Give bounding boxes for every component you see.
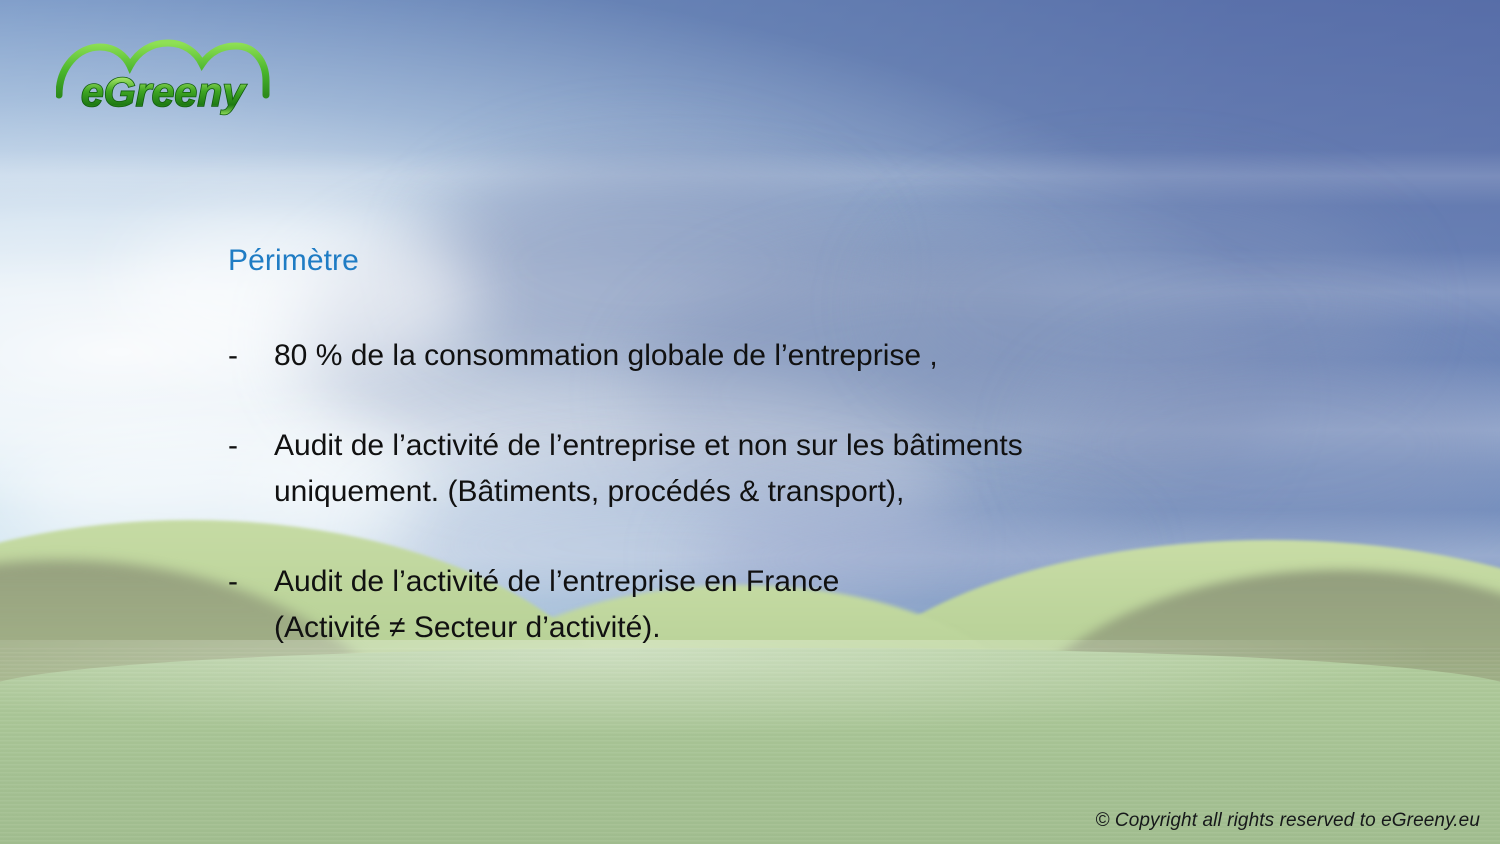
bullet-text: 80 % de la consommation globale de l’ent… — [274, 333, 1320, 379]
logo-wordmark: eGreeny — [81, 69, 247, 115]
list-item: - Audit de l’activité de l’entreprise en… — [228, 559, 1320, 651]
egreeny-logo-icon: eGreeny — [56, 33, 270, 117]
egreeny-logo[interactable]: eGreeny — [56, 33, 270, 117]
list-item: - 80 % de la consommation globale de l’e… — [228, 333, 1320, 379]
page-title: Périmètre — [228, 243, 1320, 279]
bullet-marker: - — [228, 559, 274, 605]
bullet-text: Audit de l’activité de l’entreprise et n… — [274, 423, 1320, 515]
slide-canvas: eGreeny Périmètre - 80 % de la consommat… — [0, 0, 1500, 844]
grass-highlight — [0, 640, 1500, 760]
bullet-marker: - — [228, 423, 274, 469]
bullet-line: (Activité ≠ Secteur d’activité). — [274, 605, 1320, 651]
bullet-marker: - — [228, 333, 274, 379]
list-item: - Audit de l’activité de l’entreprise et… — [228, 423, 1320, 515]
bullet-line: Audit de l’activité de l’entreprise et n… — [274, 429, 1023, 462]
slide-content: Périmètre - 80 % de la consommation glob… — [228, 243, 1320, 651]
bullet-line: Audit de l’activité de l’entreprise en F… — [274, 559, 1320, 605]
copyright-notice: © Copyright all rights reserved to eGree… — [1095, 810, 1480, 832]
bullet-text: Audit de l’activité de l’entreprise en F… — [274, 559, 1320, 651]
bullet-line: 80 % de la consommation globale de l’ent… — [274, 333, 1320, 379]
bullet-line: uniquement. (Bâtiments, procédés & trans… — [274, 469, 1320, 515]
